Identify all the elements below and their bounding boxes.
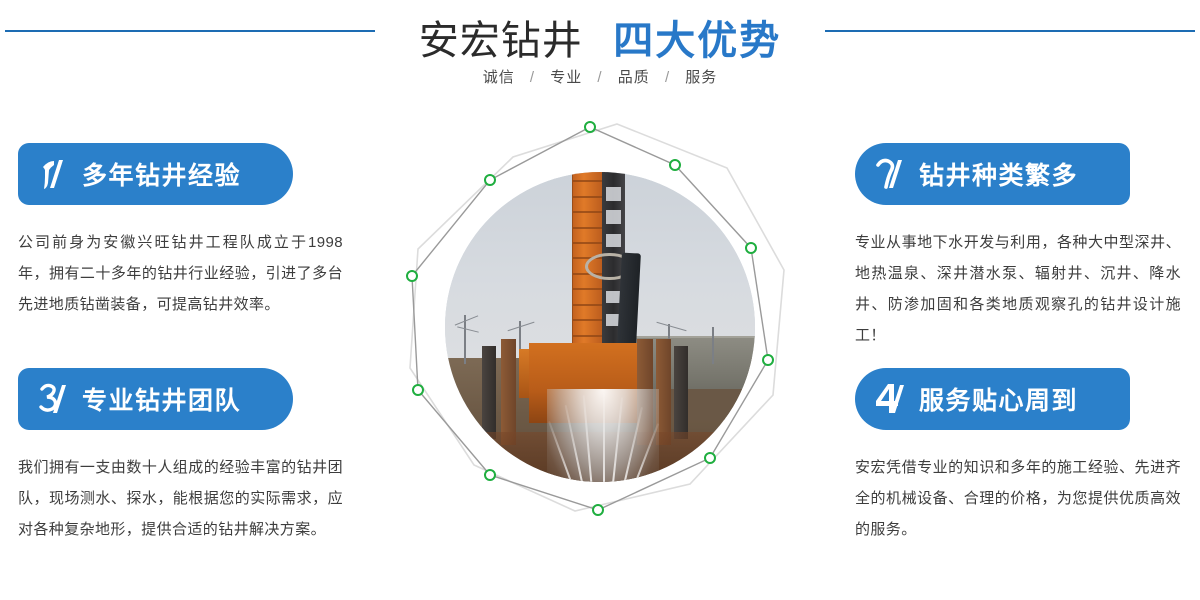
- page-header: 安宏钻井 四大优势 诚信 / 专业 / 品质 / 服务: [0, 0, 1200, 110]
- feature-badge-4[interactable]: 服务贴心周到: [855, 368, 1130, 430]
- photo-rig-leg: [501, 339, 517, 444]
- feature-block-3: 专业钻井团队 我们拥有一支由数十人组成的经验丰富的钻井团队，现场测水、探水，能根…: [18, 368, 363, 545]
- number-2-icon: [869, 151, 915, 197]
- feature-badge-1[interactable]: 多年钻井经验: [18, 143, 293, 205]
- feature-block-1: 多年钻井经验 公司前身为安徽兴旺钻井工程队成立于1998年，拥有二十多年的钻井行…: [18, 143, 363, 320]
- feature-title-1: 多年钻井经验: [82, 156, 241, 192]
- title-main-text: 安宏钻井: [419, 8, 583, 66]
- feature-text-4: 安宏凭借专业的知识和多年的施工经验、先进齐全的机械设备、合理的价格，为您提供优质…: [855, 452, 1181, 545]
- subtitle-word-1: 诚信: [483, 69, 515, 86]
- feature-badge-2[interactable]: 钻井种类繁多: [855, 143, 1130, 205]
- photo-rig-post: [482, 346, 496, 439]
- center-graphic: [370, 110, 830, 600]
- photo-water-gush: [547, 389, 659, 482]
- page-title: 安宏钻井 四大优势: [0, 8, 1200, 66]
- photo-tree: [712, 327, 714, 364]
- number-4-icon: [869, 376, 915, 422]
- subtitle-separator-2: /: [597, 69, 602, 86]
- subtitle-separator-3: /: [665, 69, 670, 86]
- feature-badge-3[interactable]: 专业钻井团队: [18, 368, 293, 430]
- number-1-icon: [32, 151, 78, 197]
- feature-title-3: 专业钻井团队: [82, 381, 241, 417]
- title-accent-text: 四大优势: [613, 8, 781, 66]
- feature-block-4: 服务贴心周到 安宏凭借专业的知识和多年的施工经验、先进齐全的机械设备、合理的价格…: [855, 368, 1200, 545]
- drilling-site-photo: [445, 172, 755, 482]
- subtitle-word-3: 品质: [618, 69, 650, 86]
- number-3-icon: [32, 376, 78, 422]
- feature-title-4: 服务贴心周到: [919, 381, 1078, 417]
- subtitle-separator-1: /: [530, 69, 535, 86]
- subtitle-word-2: 专业: [550, 69, 582, 86]
- header-subtitle: 诚信 / 专业 / 品质 / 服务: [0, 66, 1200, 87]
- feature-text-2: 专业从事地下水开发与利用，各种大中型深井、地热温泉、深井潜水泵、辐射井、沉井、降…: [855, 227, 1181, 351]
- feature-block-2: 钻井种类繁多 专业从事地下水开发与利用，各种大中型深井、地热温泉、深井潜水泵、辐…: [855, 143, 1200, 351]
- feature-text-3: 我们拥有一支由数十人组成的经验丰富的钻井团队，现场测水、探水，能根据您的实际需求…: [18, 452, 343, 545]
- feature-text-1: 公司前身为安徽兴旺钻井工程队成立于1998年，拥有二十多年的钻井行业经验，引进了…: [18, 227, 343, 320]
- subtitle-word-4: 服务: [685, 69, 717, 86]
- feature-title-2: 钻井种类繁多: [919, 156, 1078, 192]
- photo-rig-post: [674, 346, 688, 439]
